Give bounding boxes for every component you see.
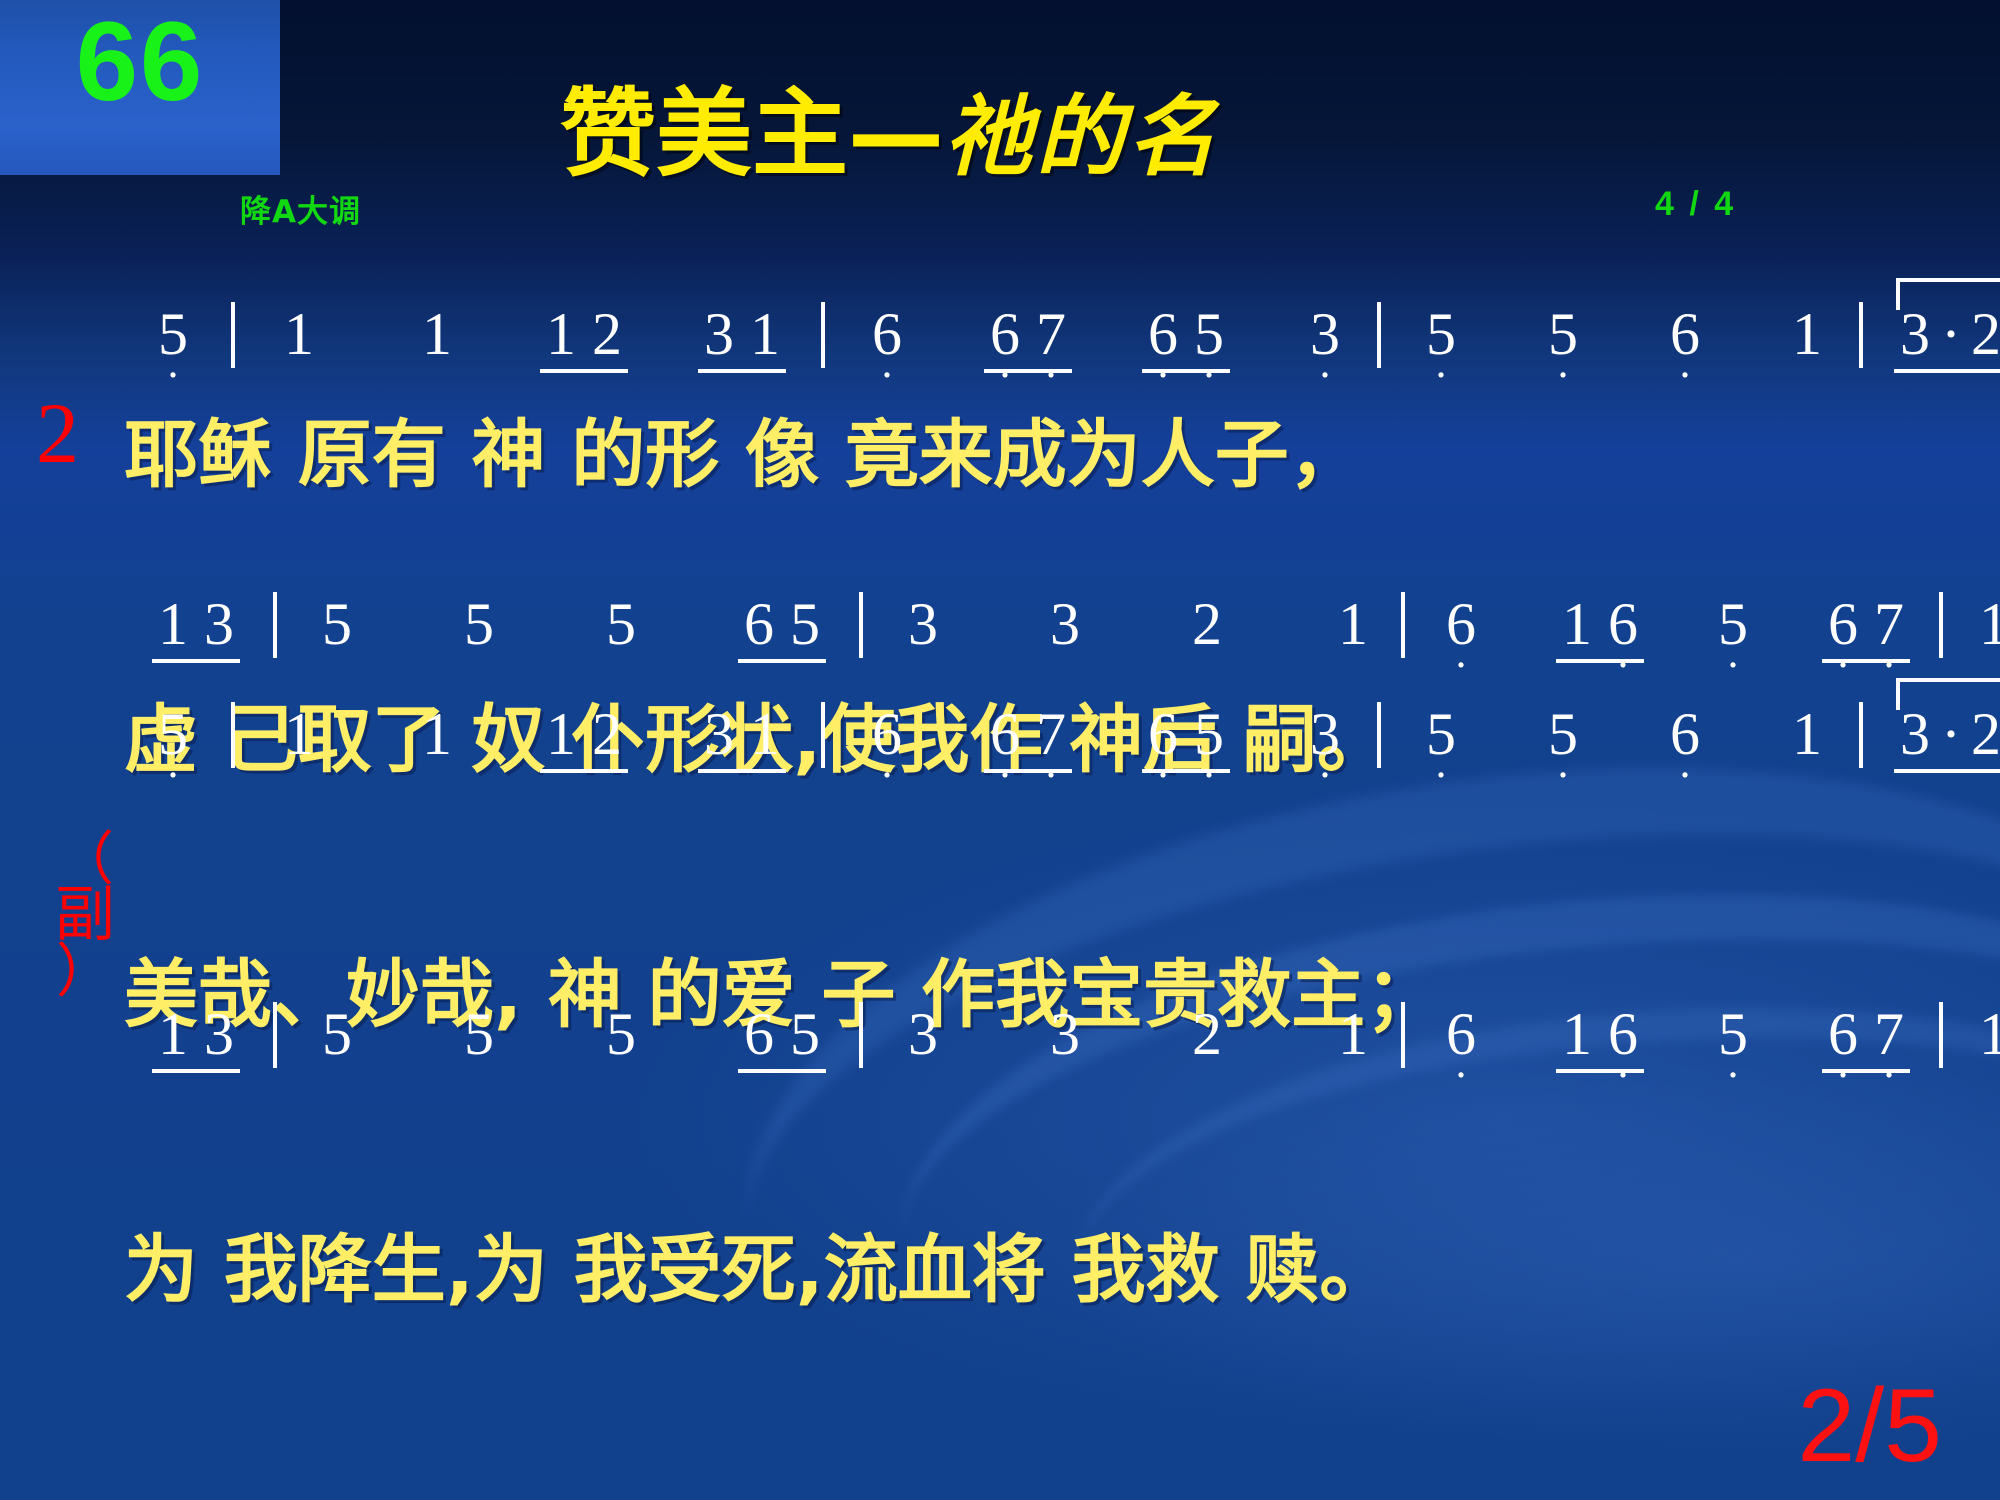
page-number: 2/5 xyxy=(1797,1374,1942,1478)
verse-number: 2 xyxy=(36,390,79,476)
staff-line-4: 13 5 5 5 65 3 3 2 1 6. 16. 5. 6.7. 1 – – xyxy=(150,1000,2000,1092)
staff-line-2: 13 5 5 5 65 3 3 2 1 6. 16. 5. 6.7. 1 – – xyxy=(150,590,2000,682)
title-main: 赞美主— xyxy=(560,78,944,190)
time-signature: 4 / 4 xyxy=(1655,185,1736,224)
title-cursive: 祂的名 xyxy=(944,85,1220,188)
chorus-paren-open: （ xyxy=(30,840,140,878)
hymn-number: 66 xyxy=(0,6,280,118)
page-title: 赞美主—祂的名 xyxy=(560,86,1560,182)
hymn-number-box: 66 xyxy=(0,0,280,175)
staff-line-3: 5. 1 1 12 31 6. 6.7. 6.5. 3. 5. 5. 6. 1 … xyxy=(150,700,2000,792)
lyric-line-1: 耶稣 原有 神 的形 像 竟来成为人子， xyxy=(124,395,1363,502)
hymn-slide: 66 降A大调 赞美主—祂的名 4 / 4 2 5. 1 1 12 31 6. … xyxy=(0,0,2000,1500)
lyric-line-4: 为 我降生,为 我受死,流血将 我救 赎。 xyxy=(124,1210,1393,1317)
staff-line-1: 5. 1 1 12 31 6. 6.7. 6.5. 3. 5. 5. 6. 1 … xyxy=(150,300,2000,392)
key-signature: 降A大调 xyxy=(240,186,361,231)
